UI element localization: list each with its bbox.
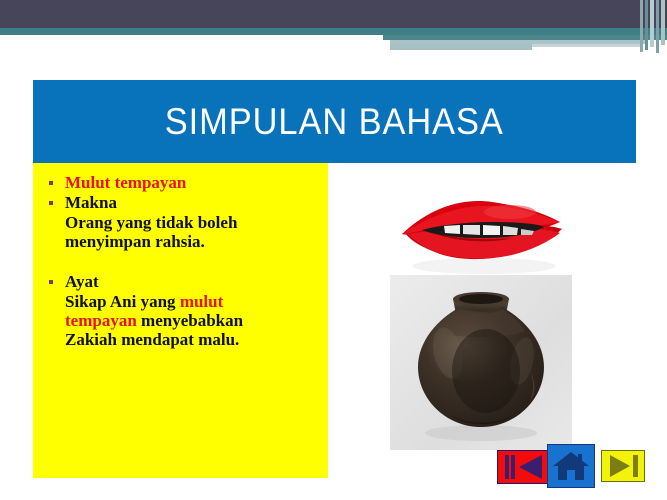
home-slide-button[interactable] xyxy=(547,444,595,488)
top-banner-teal-stripe xyxy=(0,28,667,35)
previous-slide-button[interactable] xyxy=(497,450,553,484)
sentence-line-3: Zakiah mendapat malu. xyxy=(43,330,320,349)
bullet-list-sentence: Ayat xyxy=(43,272,320,291)
lips-image xyxy=(392,196,572,280)
navigation-button-group xyxy=(497,444,645,490)
top-banner-light-stripe-2 xyxy=(390,44,532,50)
meaning-line-1: Orang yang tidak boleh xyxy=(43,213,320,232)
sentence-text-part2: menyebabkan xyxy=(137,311,243,330)
sentence-text-part1: Sikap Ani yang xyxy=(65,292,180,311)
banner-vertical-bar-5 xyxy=(661,0,665,45)
slide-title-bar: SIMPULAN BAHASA xyxy=(33,80,636,163)
meaning-label: Makna xyxy=(65,193,117,212)
banner-vertical-bar-3 xyxy=(650,0,654,47)
presentation-slide: SIMPULAN BAHASA Mulut tempayan Makna Ora… xyxy=(0,0,667,500)
banner-vertical-bar-2 xyxy=(645,0,648,50)
page-title: SIMPULAN BAHASA xyxy=(165,101,504,143)
next-slide-button[interactable] xyxy=(601,450,645,482)
sentence-line-1: Sikap Ani yang mulut xyxy=(43,292,320,311)
list-item-meaning: Makna xyxy=(43,193,320,212)
top-banner-light-stripe-3 xyxy=(532,44,642,47)
top-banner-white-gap xyxy=(0,35,384,41)
top-banner-navy xyxy=(0,0,667,28)
idiom-label: Mulut tempayan xyxy=(65,173,186,192)
bullet-list: Mulut tempayan Makna xyxy=(43,173,320,212)
sentence-highlight-1: mulut xyxy=(180,292,223,311)
list-item-idiom: Mulut tempayan xyxy=(43,173,320,192)
banner-vertical-bar-1 xyxy=(640,0,643,52)
list-item-sentence: Ayat xyxy=(43,272,320,291)
meaning-line-2: menyimpan rahsia. xyxy=(43,232,320,251)
clay-pot-image xyxy=(390,275,572,450)
banner-vertical-bar-4 xyxy=(656,0,659,53)
section-spacer xyxy=(43,251,320,272)
sentence-label: Ayat xyxy=(65,272,99,291)
sentence-highlight-2: tempayan xyxy=(65,311,137,330)
sentence-line-2: tempayan menyebabkan xyxy=(43,311,320,330)
content-panel: Mulut tempayan Makna Orang yang tidak bo… xyxy=(33,163,328,478)
